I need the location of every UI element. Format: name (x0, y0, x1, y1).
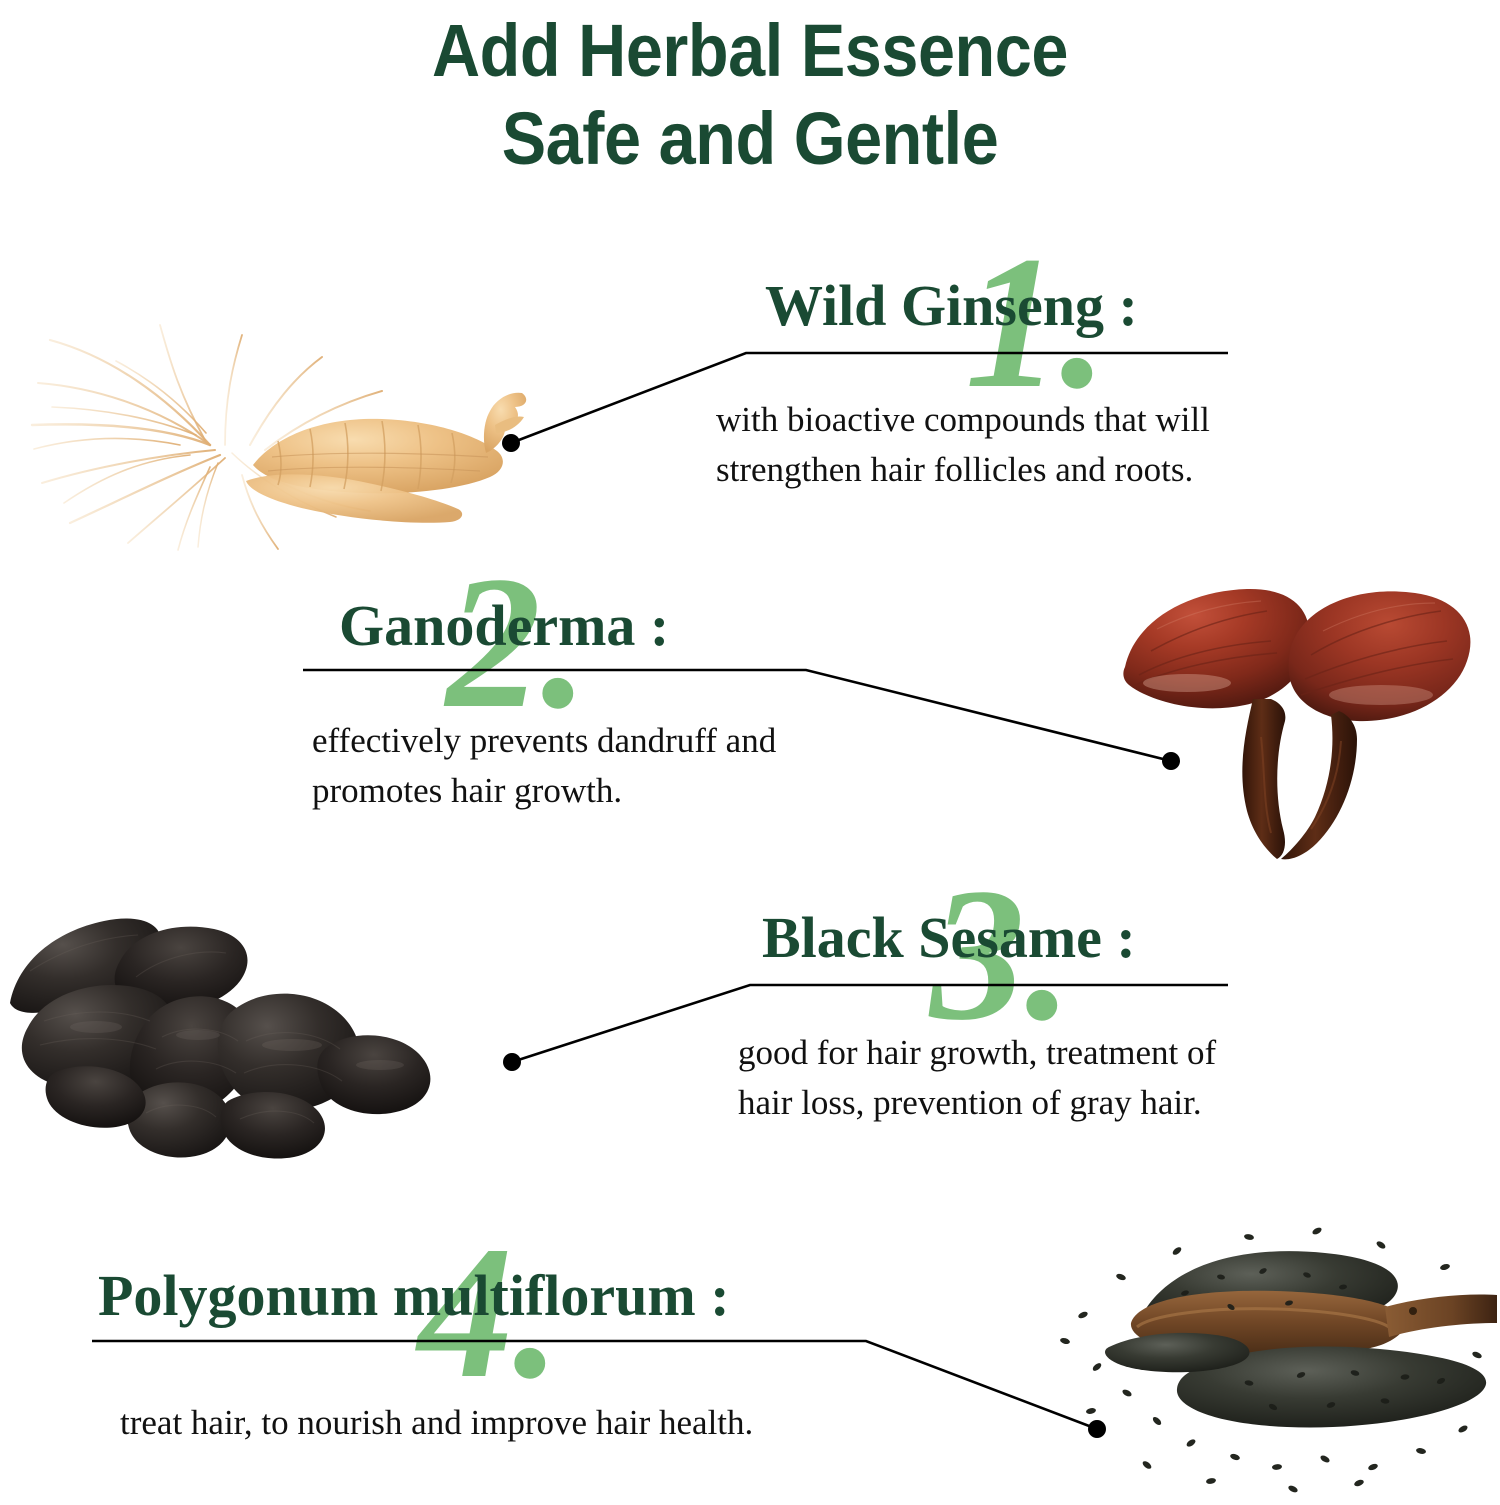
item-heading-4: Polygonum multiflorum : (98, 1262, 730, 1329)
item-description-2: effectively prevents dandruff and promot… (312, 716, 776, 815)
item-description-2-line-1: effectively prevents dandruff and (312, 716, 776, 766)
item-description-3: good for hair growth, treatment of hair … (738, 1028, 1216, 1127)
item-description-1-line-2: strengthen hair follicles and roots. (716, 445, 1210, 495)
item-description-4-line-1: treat hair, to nourish and improve hair … (120, 1398, 753, 1448)
item-description-3-line-1: good for hair growth, treatment of (738, 1028, 1216, 1078)
item-description-1-line-1: with bioactive compounds that will (716, 395, 1210, 445)
item-description-4: treat hair, to nourish and improve hair … (120, 1398, 753, 1448)
infographic-canvas: Add Herbal Essence Safe and Gentle (0, 0, 1500, 1500)
item-description-3-line-2: hair loss, prevention of gray hair. (738, 1078, 1216, 1128)
item-heading-1: Wild Ginseng : (765, 272, 1138, 339)
item-description-2-line-2: promotes hair growth. (312, 766, 776, 816)
item-heading-3: Black Sesame : (762, 904, 1136, 971)
item-heading-2: Ganoderma : (339, 592, 669, 659)
item-description-1: with bioactive compounds that will stren… (716, 395, 1210, 494)
